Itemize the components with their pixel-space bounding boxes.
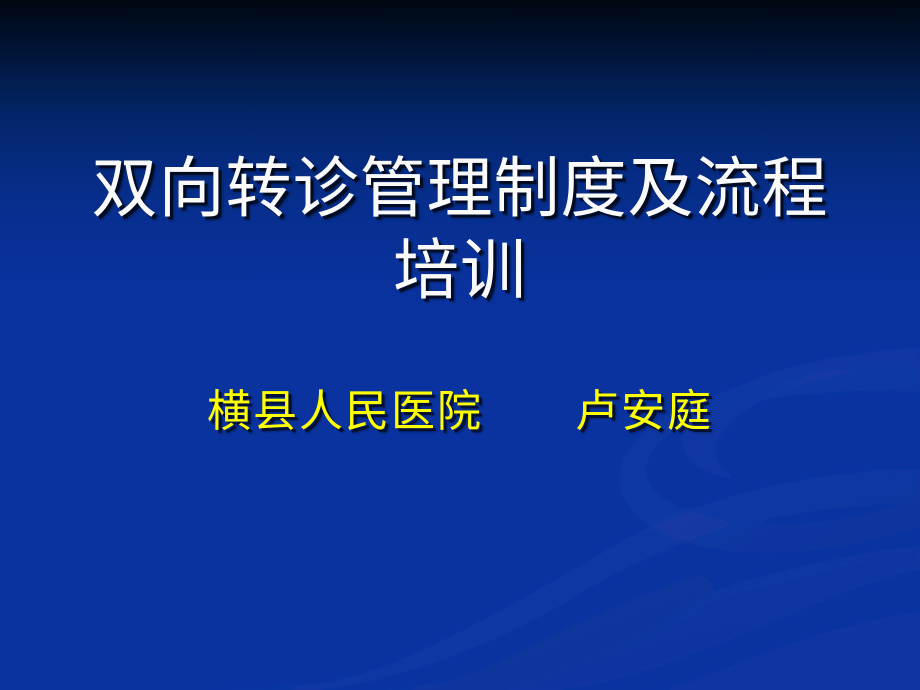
- slide-title-line-2: 培训: [0, 230, 920, 312]
- presentation-slide: 双向转诊管理制度及流程 培训 横县人民医院 卢安庭: [0, 0, 920, 690]
- slide-subtitle-line-1: 横县人民医院 卢安庭: [0, 383, 920, 441]
- slide-title: 双向转诊管理制度及流程 培训: [0, 148, 920, 312]
- slide-content: 双向转诊管理制度及流程 培训 横县人民医院 卢安庭: [0, 0, 920, 690]
- slide-title-line-1: 双向转诊管理制度及流程: [0, 148, 920, 230]
- slide-subtitle: 横县人民医院 卢安庭: [0, 383, 920, 441]
